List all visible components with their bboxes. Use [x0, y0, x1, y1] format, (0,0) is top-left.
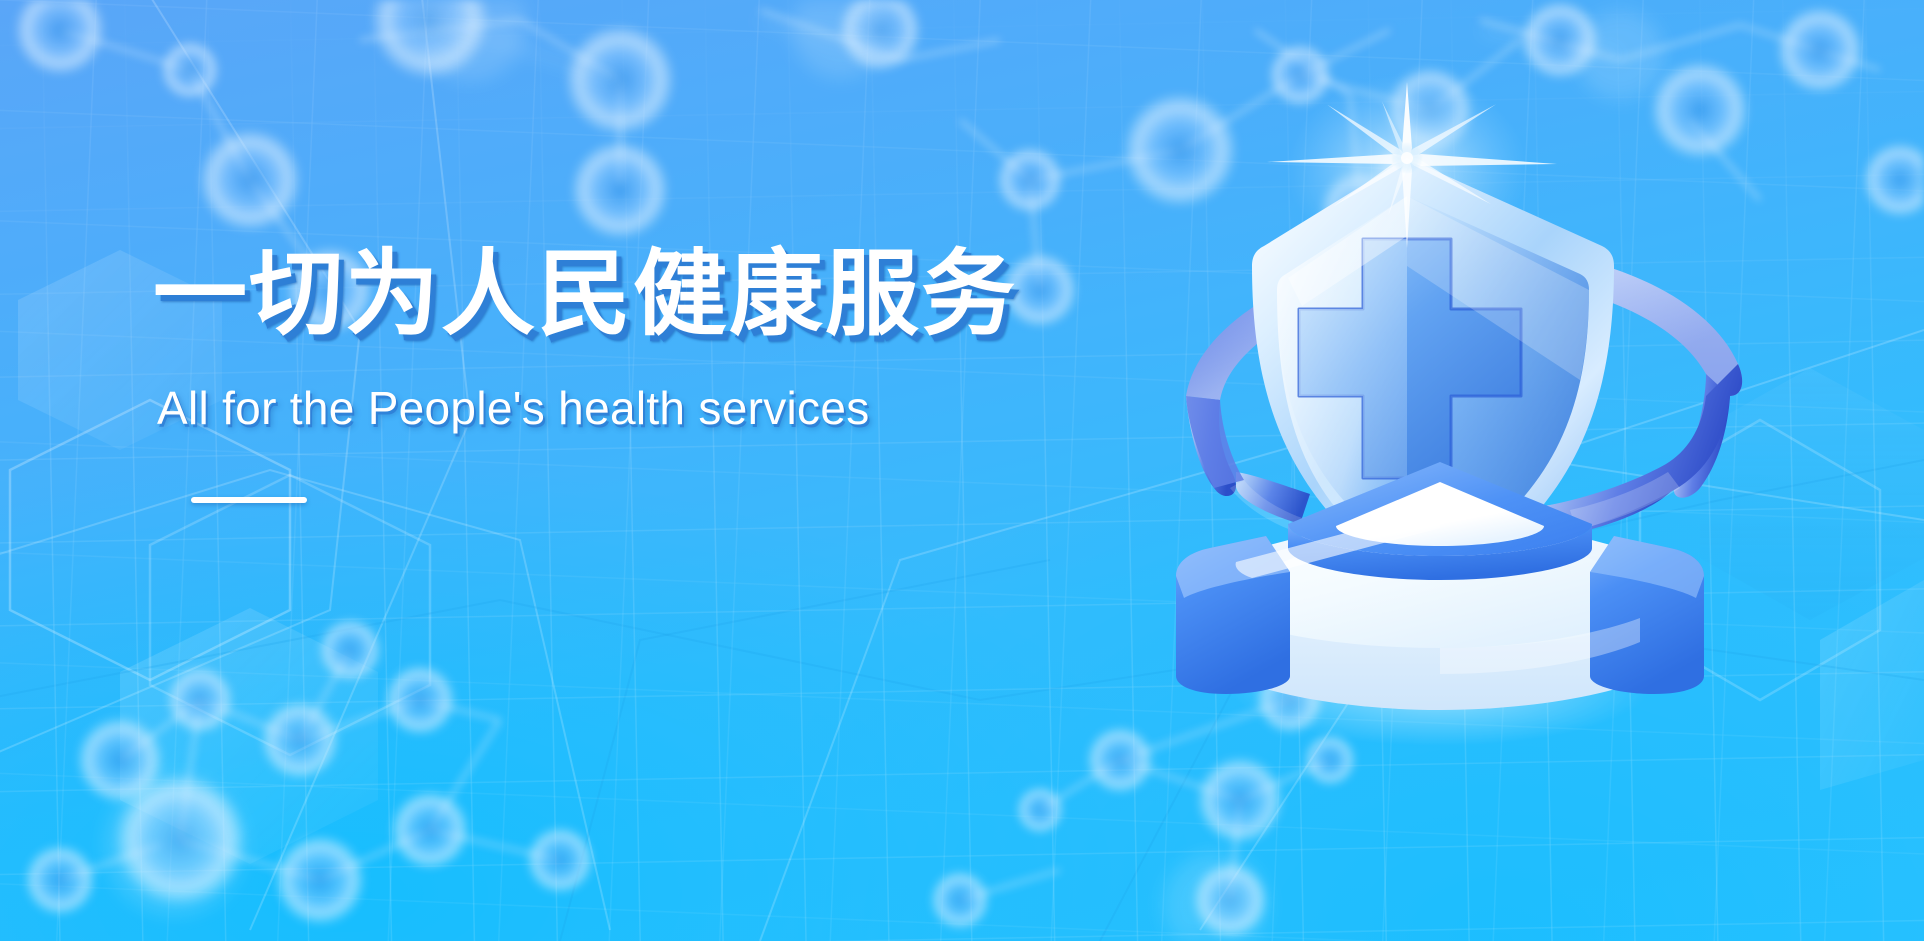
page-subtitle: All for the People's health services	[157, 383, 1153, 434]
page-title: 一切为人民健康服务	[153, 243, 1153, 345]
hexagon-fill	[1820, 580, 1924, 790]
hexagon-outline	[150, 475, 430, 755]
medical-shield-illustration	[1140, 96, 1780, 786]
accent-rule	[191, 497, 307, 503]
health-banner: 一切为人民健康服务 All for the People's health se…	[0, 0, 1924, 941]
hexagon-fill	[120, 608, 378, 864]
molecule-bonds-soft	[430, 20, 1620, 80]
banner-copy: 一切为人民健康服务 All for the People's health se…	[153, 243, 1153, 503]
